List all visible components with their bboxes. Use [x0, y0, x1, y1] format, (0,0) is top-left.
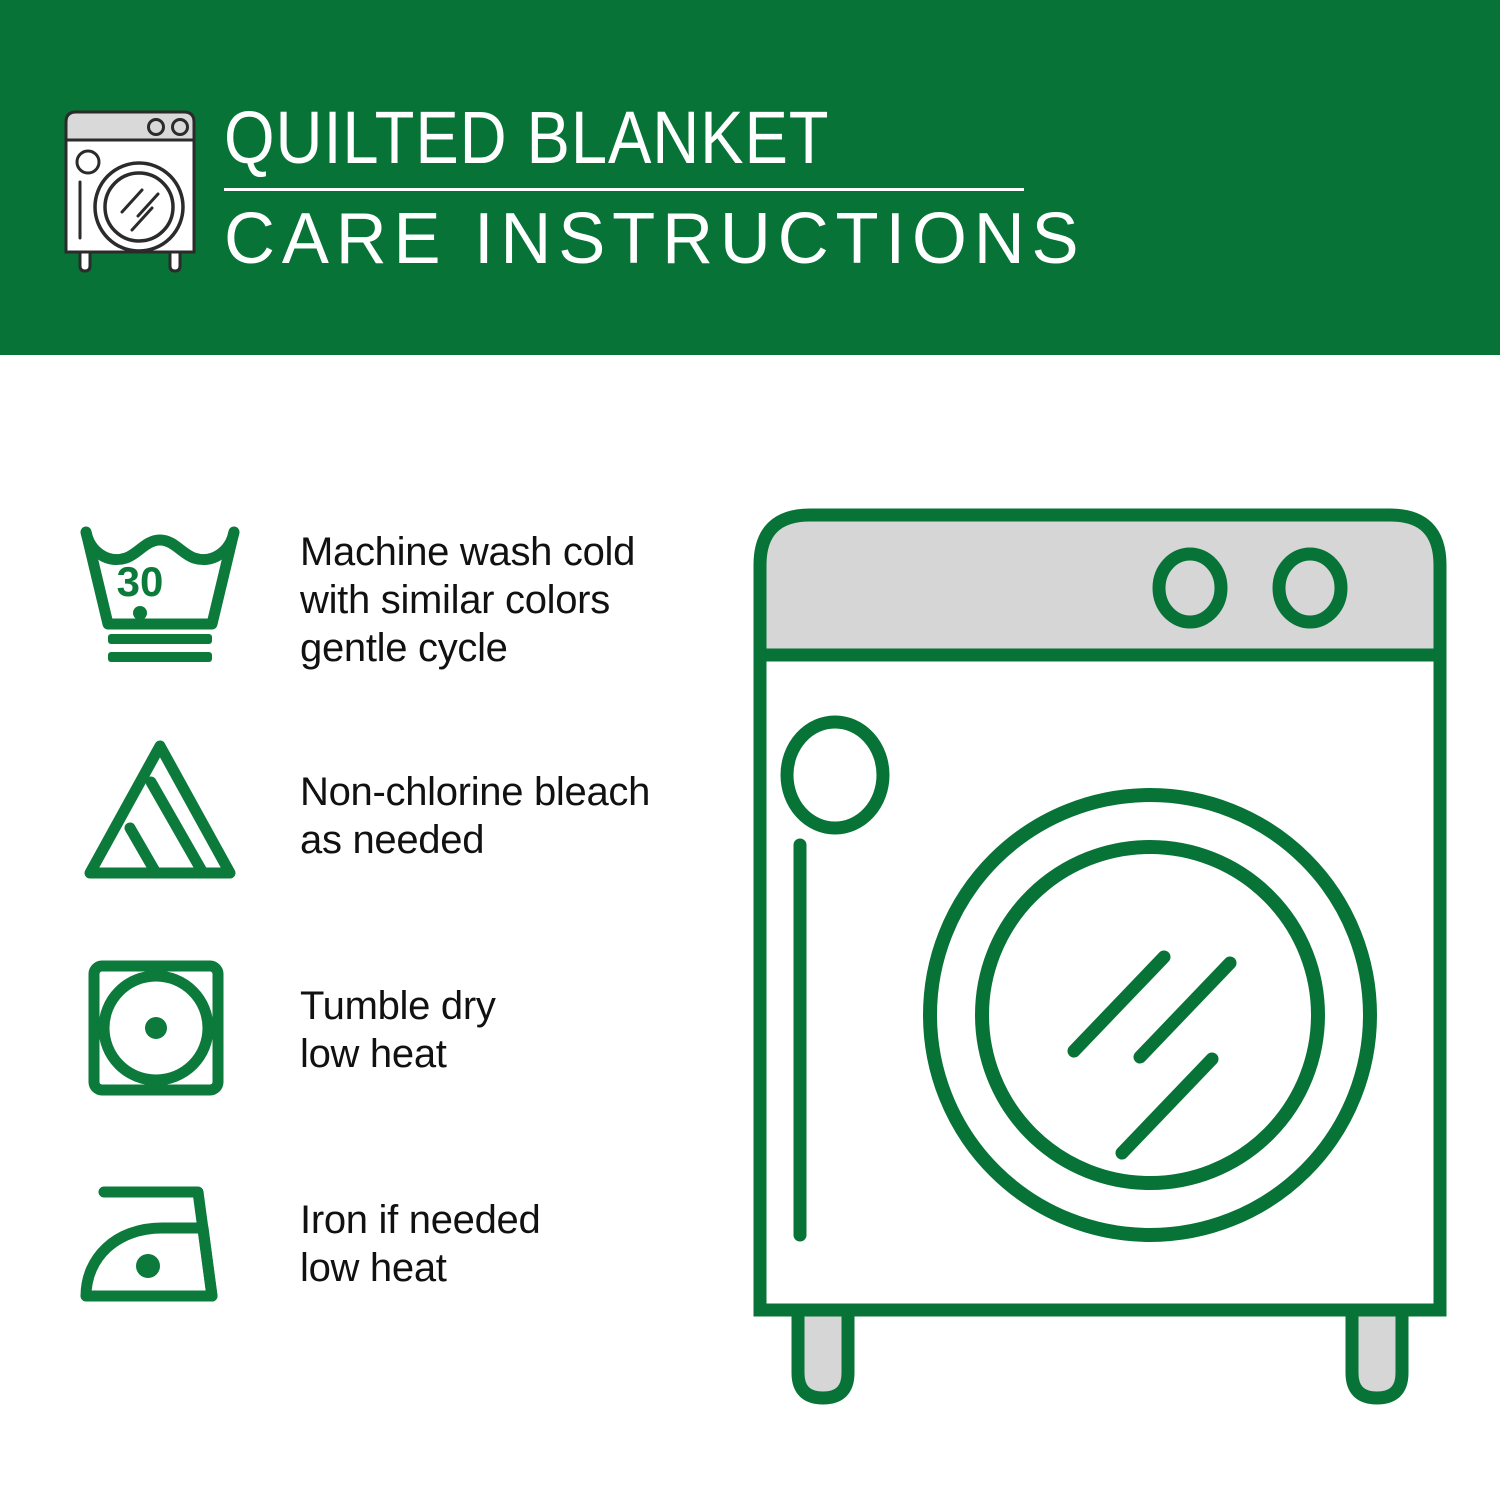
iron-heat-dot — [136, 1254, 160, 1278]
front-load-washing-machine-illustration — [740, 495, 1460, 1425]
non-chlorine-bleach-triangle-icon — [72, 730, 248, 890]
care-row-tumble-dry: Tumble dry low heat — [72, 948, 712, 1166]
care-text-iron: Iron if needed low heat — [300, 1166, 540, 1292]
care-text-bleach: Non-chlorine bleach as needed — [300, 730, 650, 864]
tumble-dry-heat-dot — [145, 1017, 167, 1039]
header-content: QUILTED BLANKET CARE INSTRUCTIONS — [60, 98, 1103, 279]
wash-tub-30-gentle-icon: 30 — [72, 512, 248, 672]
header-title-group: QUILTED BLANKET CARE INSTRUCTIONS — [224, 98, 1103, 279]
tumble-dry-low-heat-icon — [72, 948, 248, 1108]
knob-left[interactable] — [1159, 554, 1221, 622]
page-title: QUILTED BLANKET — [224, 98, 998, 178]
care-row-bleach: Non-chlorine bleach as needed — [72, 730, 712, 948]
care-text-tumble-dry: Tumble dry low heat — [300, 948, 496, 1078]
iron-low-heat-icon — [72, 1166, 248, 1326]
detergent-dispenser-circle — [787, 722, 883, 828]
care-text-machine-wash: Machine wash cold with similar colors ge… — [300, 512, 635, 672]
knob-right[interactable] — [1279, 554, 1341, 622]
washing-machine-icon — [60, 106, 210, 274]
wash-dot — [133, 606, 147, 620]
header-banner: QUILTED BLANKET CARE INSTRUCTIONS — [0, 0, 1500, 355]
care-row-machine-wash: 30 Machine wash cold with similar colors… — [72, 512, 712, 730]
title-divider — [224, 188, 1024, 191]
leg-left — [798, 1310, 848, 1398]
wash-temperature-label: 30 — [117, 558, 164, 605]
care-row-iron: Iron if needed low heat — [72, 1166, 712, 1384]
page-subtitle: CARE INSTRUCTIONS — [224, 199, 1085, 279]
care-instruction-list: 30 Machine wash cold with similar colors… — [72, 512, 712, 1384]
leg-right — [1352, 1310, 1402, 1398]
